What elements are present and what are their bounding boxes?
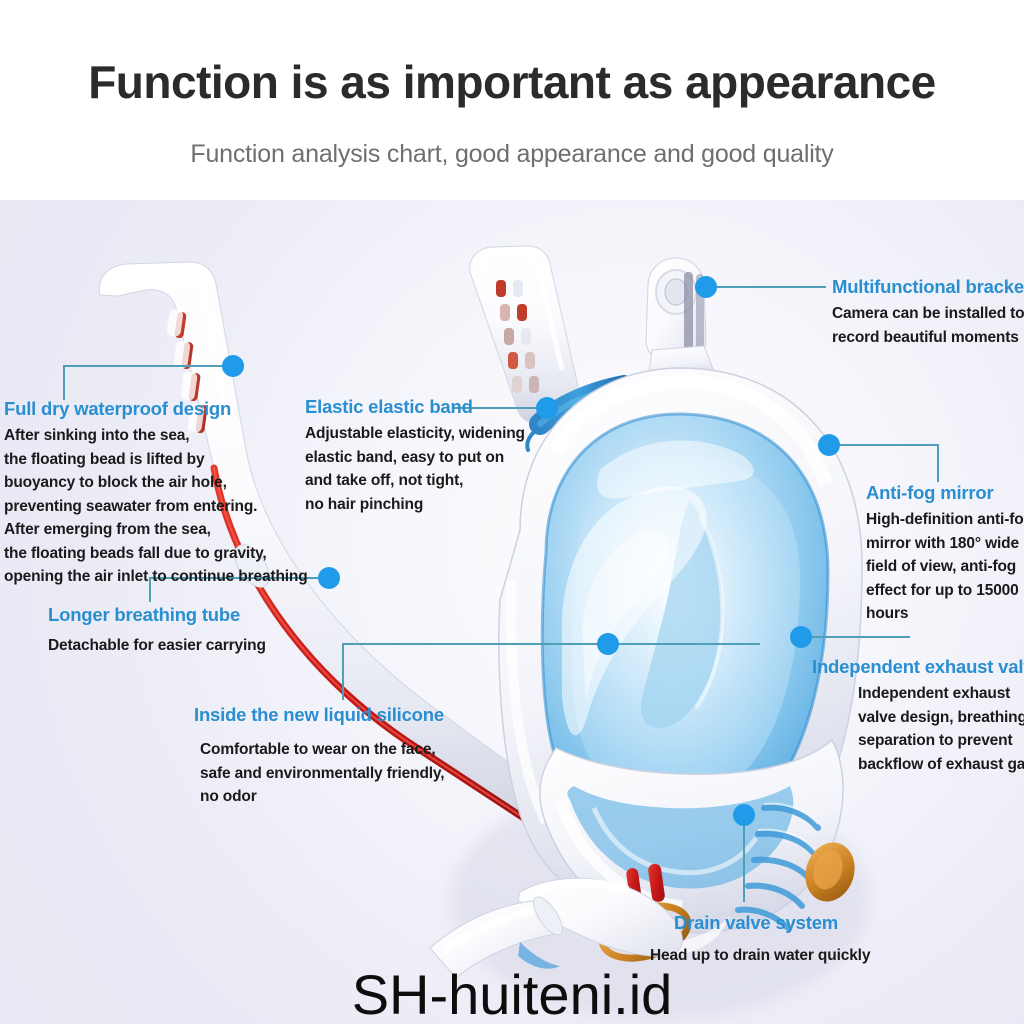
- callout-line: separation to prevent: [858, 729, 1024, 753]
- callout-title-full-dry-waterproof-design: Full dry waterproof design: [4, 398, 308, 420]
- header-banner: Function is as important as appearance F…: [0, 0, 1024, 200]
- callout-line: opening the air inlet to continue breath…: [4, 565, 308, 589]
- callout-independent-exhaust-valve: Independent exhaust valve Independent ex…: [812, 656, 1024, 776]
- callout-body-inside-the-new-liquid-silicone: Comfortable to wear on the face, safe an…: [200, 738, 444, 809]
- dot-liquid-silicone: [597, 633, 619, 655]
- callout-line: After sinking into the sea,: [4, 424, 308, 448]
- callout-line: the floating beads fall due to gravity,: [4, 542, 308, 566]
- callout-line: Camera can be installed to: [832, 302, 1024, 326]
- callout-line: hours: [866, 602, 1024, 626]
- callout-line: buoyancy to block the air hole,: [4, 471, 308, 495]
- callout-longer-breathing-tube: Longer breathing tube Detachable for eas…: [48, 604, 266, 658]
- page-subtitle: Function analysis chart, good appearance…: [0, 140, 1024, 169]
- callout-line: safe and environmentally friendly,: [200, 762, 444, 786]
- callout-line: Comfortable to wear on the face,: [200, 738, 444, 762]
- dot-drain-valve: [733, 804, 755, 826]
- callout-title-elastic-elastic-band: Elastic elastic band: [305, 396, 525, 418]
- callout-line: Independent exhaust: [858, 682, 1024, 706]
- callout-full-dry-waterproof-design: Full dry waterproof design After sinking…: [4, 398, 308, 589]
- callout-line: Adjustable elasticity, widening: [305, 422, 525, 446]
- callout-body-anti-fog-mirror: High-definition anti-fog mirror with 180…: [866, 508, 1024, 626]
- callout-title-drain-valve-system: Drain valve system: [674, 912, 870, 934]
- callout-line: valve design, breathing: [858, 706, 1024, 730]
- callout-inside-the-new-liquid-silicone: Inside the new liquid silicone Comfortab…: [194, 704, 444, 809]
- callout-body-elastic-elastic-band: Adjustable elasticity, widening elastic …: [305, 422, 525, 516]
- callout-title-inside-the-new-liquid-silicone: Inside the new liquid silicone: [194, 704, 444, 726]
- watermark: SH-huiteni.id: [0, 962, 1024, 1027]
- dot-elastic-band: [536, 397, 558, 419]
- callout-drain-valve-system: Drain valve system Head up to drain wate…: [674, 912, 870, 968]
- dot-longer-tube: [318, 567, 340, 589]
- callout-title-independent-exhaust-valve: Independent exhaust valve: [812, 656, 1024, 678]
- callout-body-multifunctional-bracket: Camera can be installed to record beauti…: [832, 302, 1024, 349]
- callout-line: High-definition anti-fog: [866, 508, 1024, 532]
- callout-title-multifunctional-bracket: Multifunctional bracket: [832, 276, 1024, 298]
- callout-line: no hair pinching: [305, 493, 525, 517]
- callout-title-longer-breathing-tube: Longer breathing tube: [48, 604, 266, 626]
- callout-line: Detachable for easier carrying: [48, 634, 266, 658]
- callout-line: the floating bead is lifted by: [4, 448, 308, 472]
- dot-full-dry: [222, 355, 244, 377]
- dot-multifunctional-bracket: [695, 276, 717, 298]
- page-title: Function is as important as appearance: [0, 58, 1024, 106]
- infographic-panel: Multifunctional bracket Camera can be in…: [0, 200, 1024, 1024]
- callout-line: record beautiful moments: [832, 326, 1024, 350]
- callout-multifunctional-bracket: Multifunctional bracket Camera can be in…: [832, 276, 1024, 349]
- callout-body-longer-breathing-tube: Detachable for easier carrying: [48, 634, 266, 658]
- callout-line: elastic band, easy to put on: [305, 446, 525, 470]
- callout-line: backflow of exhaust gas: [858, 753, 1024, 777]
- callout-body-independent-exhaust-valve: Independent exhaust valve design, breath…: [858, 682, 1024, 776]
- callout-line: After emerging from the sea,: [4, 518, 308, 542]
- dot-exhaust-valve: [790, 626, 812, 648]
- callout-elastic-elastic-band: Elastic elastic band Adjustable elastici…: [305, 396, 525, 516]
- dot-anti-fog: [818, 434, 840, 456]
- callout-line: preventing seawater from entering.: [4, 495, 308, 519]
- callout-line: mirror with 180° wide: [866, 532, 1024, 556]
- callout-title-anti-fog-mirror: Anti-fog mirror: [866, 482, 1024, 504]
- callout-line: and take off, not tight,: [305, 469, 525, 493]
- callout-line: no odor: [200, 785, 444, 809]
- callout-anti-fog-mirror: Anti-fog mirror High-definition anti-fog…: [866, 482, 1024, 626]
- callout-line: field of view, anti-fog: [866, 555, 1024, 579]
- callout-line: effect for up to 15000: [866, 579, 1024, 603]
- callout-body-full-dry-waterproof-design: After sinking into the sea, the floating…: [4, 424, 308, 589]
